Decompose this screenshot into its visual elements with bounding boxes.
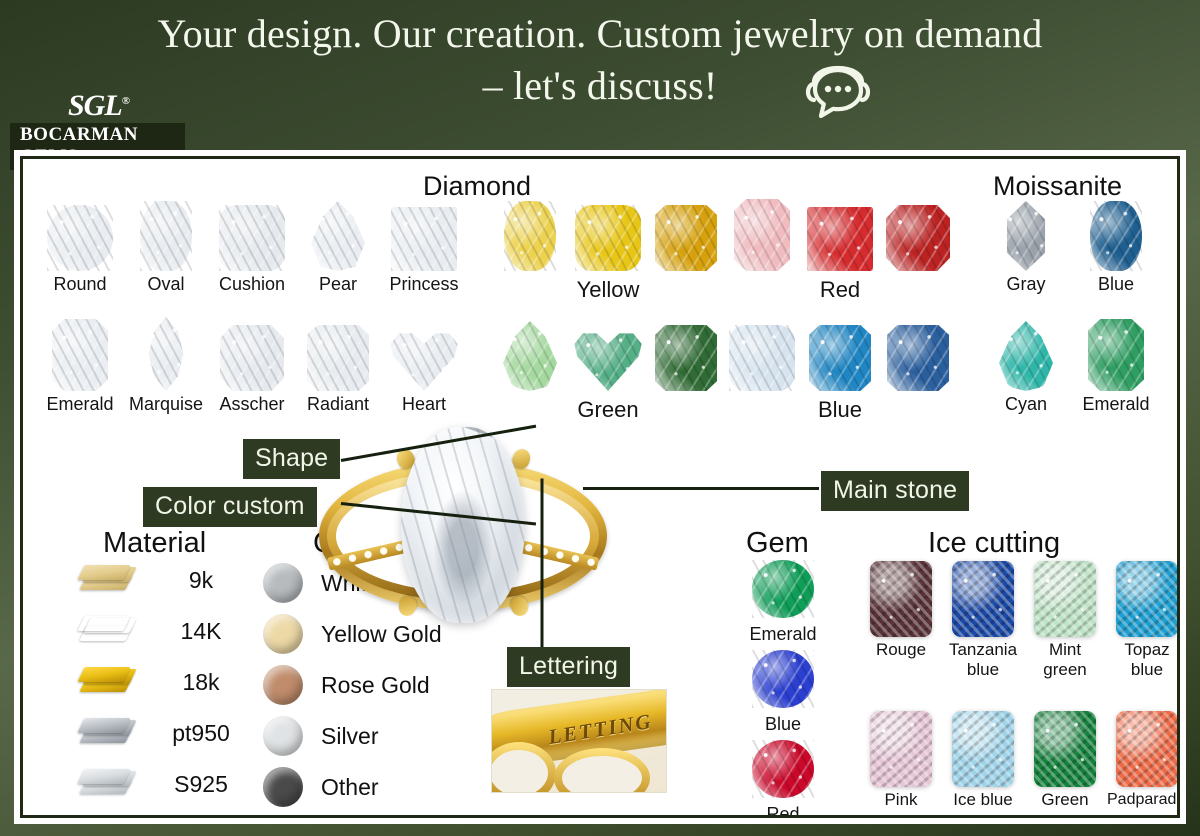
gem-facet-highlights: [655, 205, 717, 271]
gem-thumb: [738, 647, 828, 711]
diamond-color-blue-3[interactable]: [879, 315, 957, 391]
gem-facet-highlights: [734, 199, 790, 271]
gem-sparkle: [220, 325, 284, 391]
gem-sparkle: [734, 199, 790, 271]
diamond-shape-label-round: Round: [37, 274, 123, 294]
diamond-color-label-yellow: Yellow: [491, 277, 725, 303]
gem-thumb: [723, 315, 801, 391]
ice-label-topaz-blue: Topaz blue: [1107, 640, 1180, 680]
gem-thumb: [1025, 707, 1105, 787]
gem-sparkle: [655, 325, 717, 391]
gem-thumb: [37, 195, 123, 271]
leader-line-lettering: [541, 479, 544, 649]
registered-mark: ®: [122, 95, 129, 107]
gem-sparkle: [389, 329, 459, 391]
diamond-color-green-1[interactable]: [491, 315, 569, 391]
diamond-shape-pear[interactable]: Pear: [295, 195, 381, 294]
gold-bar-icon: [81, 665, 137, 699]
gem-label-blue: Blue: [738, 714, 828, 734]
diamond-shape-label-oval: Oval: [123, 274, 209, 294]
gem-thumb: [381, 315, 467, 391]
diamond-color-blue-1[interactable]: [723, 315, 801, 391]
gem-facet-highlights: [307, 325, 369, 391]
diamond-cushion-icon: [219, 205, 285, 271]
gem-sparkle: [752, 560, 814, 618]
callout-shape[interactable]: Shape: [243, 439, 340, 479]
ice-mint-green-icon: [1034, 561, 1096, 637]
gem-sparkle: [807, 207, 873, 271]
gem-facet-lines: [752, 740, 814, 798]
gem-blue-icon: [752, 650, 814, 708]
ice-cut-green[interactable]: Green: [1025, 707, 1105, 810]
gem-facet-lines: [886, 205, 950, 271]
diamond-color-blue-2[interactable]: [801, 315, 879, 391]
gem-thumb: [801, 315, 879, 391]
logo-monogram: SGL®: [10, 84, 185, 123]
diamond-red-asscher-icon: [886, 205, 950, 271]
ice-tanzania-blue-icon: [952, 561, 1014, 637]
gem-blue[interactable]: Blue: [738, 647, 828, 734]
gem-sparkle: [307, 325, 369, 391]
diamond-shape-heart[interactable]: Heart: [381, 315, 467, 414]
gem-sparkle: [952, 711, 1014, 787]
material-row-18k[interactable]: 18k: [81, 665, 247, 699]
ice-label-green: Green: [1025, 790, 1105, 810]
diamond-shape-emerald[interactable]: Emerald: [37, 315, 123, 414]
header-banner: Your design. Our creation. Custom jewelr…: [0, 0, 1200, 148]
gem-red[interactable]: Red: [738, 737, 828, 818]
diamond-shape-label-pear: Pear: [295, 274, 381, 294]
gem-facet-highlights: [143, 317, 189, 391]
material-label-s925: S925: [155, 771, 247, 798]
material-row-s925[interactable]: S925: [81, 767, 247, 801]
moissanite-blue-icon: [1090, 201, 1142, 271]
ice-label-padparadscha: Padparadscha: [1107, 790, 1180, 810]
ice-green-icon: [1034, 711, 1096, 787]
gem-facet-highlights: [389, 329, 459, 391]
moissanite-emerald-icon: [1088, 319, 1144, 391]
gem-sparkle: [391, 207, 457, 271]
gem-facet-highlights: [575, 205, 641, 271]
diamond-color-red-2[interactable]: [801, 195, 879, 271]
color-swatch-silver: [263, 716, 303, 756]
gem-facet-lines: [887, 325, 949, 391]
gem-sparkle: [752, 740, 814, 798]
content-panel: Diamond Moissanite Material Color Gem Ic…: [20, 156, 1180, 818]
gem-sparkle: [1034, 561, 1096, 637]
gem-facet-highlights: [752, 740, 814, 798]
diamond-red-emerald-icon: [734, 199, 790, 271]
gem-facet-highlights: [807, 207, 873, 271]
color-label-other: Other: [321, 774, 379, 801]
material-label-pt950: pt950: [155, 720, 247, 747]
color-label-silver: Silver: [321, 723, 379, 750]
diamond-shape-round[interactable]: Round: [37, 195, 123, 294]
gem-facet-lines: [47, 205, 113, 271]
diamond-yellow-oval-icon: [504, 201, 556, 271]
gem-facet-lines: [573, 329, 643, 391]
gem-facet-lines: [998, 201, 1054, 271]
diamond-blue-cushion-icon: [729, 325, 795, 391]
ice-padparadscha-icon: [1116, 711, 1178, 787]
infographic-root: Your design. Our creation. Custom jewelr…: [0, 0, 1200, 836]
section-title-ice: Ice cutting: [928, 527, 1060, 560]
gem-thumb: [491, 315, 569, 391]
gem-facet-highlights: [729, 325, 795, 391]
gem-sparkle: [887, 325, 949, 391]
callout-color-custom[interactable]: Color custom: [143, 487, 317, 527]
gem-sparkle: [311, 201, 365, 271]
color-row-silver[interactable]: Silver: [263, 716, 379, 756]
color-swatch-rose-gold: [263, 665, 303, 705]
gem-sparkle: [1088, 319, 1144, 391]
diamond-emerald-icon: [52, 319, 108, 391]
gem-sparkle: [655, 205, 717, 271]
gem-sparkle: [752, 650, 814, 708]
gem-label-emerald: Emerald: [738, 624, 828, 644]
ice-ice-blue-icon: [952, 711, 1014, 787]
gold-bar-piece: [77, 616, 130, 631]
diamond-shape-oval[interactable]: Oval: [123, 195, 209, 294]
color-row-rose-gold[interactable]: Rose Gold: [263, 665, 430, 705]
material-label-14k: 14K: [155, 618, 247, 645]
gem-facet-lines: [734, 199, 790, 271]
gem-sparkle: [1034, 711, 1096, 787]
diamond-princess-icon: [391, 207, 457, 271]
section-title-material: Material: [103, 527, 206, 560]
gold-bar-icon: [81, 767, 137, 801]
diamond-pear-icon: [311, 201, 365, 271]
material-label-18k: 18k: [155, 669, 247, 696]
gem-facet-highlights: [998, 201, 1054, 271]
gem-facet-lines: [807, 207, 873, 271]
gem-thumb: [879, 315, 957, 391]
gem-facet-highlights: [999, 321, 1053, 391]
diamond-shape-label-asscher: Asscher: [209, 394, 295, 414]
diamond-shape-label-cushion: Cushion: [209, 274, 295, 294]
gem-facet-lines: [752, 560, 814, 618]
diamond-yellow-radiant-icon: [655, 205, 717, 271]
gold-bar-icon: [81, 716, 137, 750]
gem-sparkle: [143, 317, 189, 391]
gem-sparkle: [870, 561, 932, 637]
gem-facet-lines: [220, 325, 284, 391]
diamond-shape-label-heart: Heart: [381, 394, 467, 414]
ice-pink-icon: [870, 711, 932, 787]
gem-facet-highlights: [809, 325, 871, 391]
gem-facet-highlights: [311, 201, 365, 271]
gem-sparkle: [504, 201, 556, 271]
gem-facet-highlights: [886, 205, 950, 271]
diamond-color-yellow-2[interactable]: [569, 195, 647, 271]
ice-cut-pink[interactable]: Pink: [861, 707, 941, 810]
ice-label-tanzania-blue: Tanzania blue: [943, 640, 1023, 680]
diamond-color-label-blue: Blue: [723, 397, 957, 423]
diamond-shape-cushion[interactable]: Cushion: [209, 195, 295, 294]
gem-thumb: [491, 195, 569, 271]
ice-cut-topaz-blue[interactable]: Topaz blue: [1107, 557, 1180, 680]
gem-thumb: [879, 195, 957, 271]
diamond-shape-label-marquise: Marquise: [123, 394, 209, 414]
gem-sparkle: [140, 201, 192, 271]
gold-bar-piece: [77, 769, 130, 784]
gem-thumb: [647, 315, 725, 391]
gem-facet-lines: [1088, 319, 1144, 391]
diamond-color-yellow-1[interactable]: [491, 195, 569, 271]
ice-cut-mint-green[interactable]: Mint green: [1025, 557, 1105, 680]
gem-emerald-icon: [752, 560, 814, 618]
gem-facet-lines: [52, 319, 108, 391]
headset-chat-bubble-icon[interactable]: [800, 62, 876, 122]
diamond-heart-icon: [389, 329, 459, 391]
gem-thumb: [943, 557, 1023, 637]
brand-logo[interactable]: SGL® BOCARMAN GEMS: [10, 84, 185, 142]
diamond-color-green-2[interactable]: [569, 315, 647, 391]
headline-line-1: Your design. Our creation. Custom jewelr…: [158, 11, 1043, 56]
gem-facet-lines: [999, 321, 1053, 391]
color-row-other[interactable]: Other: [263, 767, 379, 807]
diamond-red-princess-icon: [807, 207, 873, 271]
gem-sparkle: [998, 201, 1054, 271]
moissanite-cyan-icon: [999, 321, 1053, 391]
content-frame: Diamond Moissanite Material Color Gem Ic…: [14, 150, 1186, 824]
color-swatch-white-gold: [263, 563, 303, 603]
gem-facet-highlights: [391, 207, 457, 271]
gold-bar-icon: [81, 563, 137, 597]
diamond-round-icon: [47, 205, 113, 271]
gem-sparkle: [52, 319, 108, 391]
gem-facet-lines: [140, 201, 192, 271]
gem-sparkle: [729, 325, 795, 391]
gem-thumb: [738, 557, 828, 621]
gem-facet-lines: [655, 325, 717, 391]
gold-bar-piece: [77, 718, 130, 733]
moissanite-blue[interactable]: Blue: [1071, 195, 1161, 294]
color-swatch-other: [263, 767, 303, 807]
diamond-color-red-1[interactable]: [723, 195, 801, 271]
ice-rouge-icon: [870, 561, 932, 637]
ice-label-ice-blue: Ice blue: [943, 790, 1023, 810]
diamond-color-green-3[interactable]: [647, 315, 725, 391]
gem-facet-lines: [504, 201, 556, 271]
gem-thumb: [209, 195, 295, 271]
moissanite-gray[interactable]: Gray: [981, 195, 1071, 294]
gem-thumb: [381, 195, 467, 271]
gem-facet-highlights: [503, 321, 557, 391]
gem-facet-highlights: [219, 205, 285, 271]
gem-facet-highlights: [752, 650, 814, 708]
gem-label-red: Red: [738, 804, 828, 818]
gem-facet-highlights: [752, 560, 814, 618]
diamond-shape-asscher[interactable]: Asscher: [209, 315, 295, 414]
gem-sparkle: [219, 205, 285, 271]
moissanite-emerald[interactable]: Emerald: [1071, 315, 1161, 414]
moissanite-cyan[interactable]: Cyan: [981, 315, 1071, 414]
gem-sparkle: [573, 329, 643, 391]
ice-label-mint-green: Mint green: [1025, 640, 1105, 680]
diamond-color-label-red: Red: [723, 277, 957, 303]
color-label-rose-gold: Rose Gold: [321, 672, 430, 699]
gem-sparkle: [886, 205, 950, 271]
gem-facet-lines: [752, 650, 814, 708]
diamond-color-red-3[interactable]: [879, 195, 957, 271]
gem-facet-highlights: [47, 205, 113, 271]
diamond-green-heart-icon: [573, 329, 643, 391]
gem-thumb: [209, 315, 295, 391]
gem-sparkle: [870, 711, 932, 787]
diamond-color-label-green: Green: [491, 397, 725, 423]
ice-topaz-blue-icon: [1116, 561, 1178, 637]
gem-facet-lines: [311, 201, 365, 271]
diamond-shape-marquise[interactable]: Marquise: [123, 315, 209, 414]
gem-sparkle: [999, 321, 1053, 391]
gem-sparkle: [575, 205, 641, 271]
gem-sparkle: [1116, 711, 1178, 787]
gem-thumb: [1107, 557, 1180, 637]
ice-label-rouge: Rouge: [861, 640, 941, 660]
diamond-oval-icon: [140, 201, 192, 271]
gem-thumb: [861, 557, 941, 637]
gem-facet-highlights: [1090, 201, 1142, 271]
gem-thumb: [295, 195, 381, 271]
main-stone-oval-diamond: [401, 427, 525, 623]
headline-line-2: – let's discuss!: [483, 60, 718, 112]
callout-lettering[interactable]: Lettering: [507, 647, 630, 687]
gem-thumb: [981, 195, 1071, 271]
gem-facet-highlights: [573, 329, 643, 391]
gem-thumb: [37, 315, 123, 391]
ice-cut-ice-blue[interactable]: Ice blue: [943, 707, 1023, 810]
color-swatch-yellow-gold: [263, 614, 303, 654]
gem-thumb: [1071, 195, 1161, 271]
gem-thumb: [943, 707, 1023, 787]
gem-red-icon: [752, 740, 814, 798]
gem-thumb: [738, 737, 828, 801]
material-row-14k[interactable]: 14K: [81, 614, 247, 648]
gem-thumb: [1071, 315, 1161, 391]
diamond-asscher-icon: [220, 325, 284, 391]
diamond-marquise-icon: [143, 317, 189, 391]
diamond-shape-label-radiant: Radiant: [295, 394, 381, 414]
moissanite-gray-icon: [998, 201, 1054, 271]
gem-facet-lines: [655, 205, 717, 271]
gem-thumb: [1025, 557, 1105, 637]
moissanite-label-emerald: Emerald: [1071, 394, 1161, 414]
diamond-shape-label-princess: Princess: [381, 274, 467, 294]
gem-facet-lines: [729, 325, 795, 391]
material-row-pt950[interactable]: pt950: [81, 716, 247, 750]
lettering-sample-photo: LETTING: [491, 689, 667, 793]
diamond-shape-radiant[interactable]: Radiant: [295, 315, 381, 414]
gem-facet-highlights: [1088, 319, 1144, 391]
main-stone-facets: [401, 427, 525, 623]
gem-thumb: [723, 195, 801, 271]
diamond-green-radiant-icon: [655, 325, 717, 391]
gem-sparkle: [809, 325, 871, 391]
gem-thumb: [861, 707, 941, 787]
gem-sparkle: [503, 321, 557, 391]
leader-line-main-stone: [583, 487, 819, 490]
gold-bar-piece: [77, 667, 130, 682]
gold-bar-piece: [77, 565, 130, 580]
moissanite-label-blue: Blue: [1071, 274, 1161, 294]
diamond-green-pear-icon: [503, 321, 557, 391]
diamond-blue-radiant-icon: [887, 325, 949, 391]
gem-thumb: [569, 195, 647, 271]
diamond-shape-label-emerald: Emerald: [37, 394, 123, 414]
gem-sparkle: [952, 561, 1014, 637]
gem-facet-lines: [809, 325, 871, 391]
gem-thumb: [123, 315, 209, 391]
diamond-blue-radiant-icon: [809, 325, 871, 391]
gem-facet-highlights: [220, 325, 284, 391]
gem-sparkle: [1090, 201, 1142, 271]
diamond-radiant-icon: [307, 325, 369, 391]
ice-cut-tanzania-blue[interactable]: Tanzania blue: [943, 557, 1023, 680]
callout-main-stone[interactable]: Main stone: [821, 471, 969, 511]
gem-facet-highlights: [140, 201, 192, 271]
gem-facet-lines: [389, 329, 459, 391]
gem-sparkle: [47, 205, 113, 271]
gem-thumb: [647, 195, 725, 271]
gold-bar-icon: [81, 614, 137, 648]
gem-facet-lines: [391, 207, 457, 271]
gem-facet-lines: [503, 321, 557, 391]
gem-thumb: [569, 315, 647, 391]
gem-thumb: [1107, 707, 1180, 787]
material-label-9k: 9k: [155, 567, 247, 594]
gem-facet-highlights: [504, 201, 556, 271]
gem-emerald[interactable]: Emerald: [738, 557, 828, 644]
diamond-color-yellow-3[interactable]: [647, 195, 725, 271]
gem-facet-highlights: [52, 319, 108, 391]
gem-facet-highlights: [655, 325, 717, 391]
gem-facet-highlights: [887, 325, 949, 391]
gem-thumb: [801, 195, 879, 271]
gem-sparkle: [1116, 561, 1178, 637]
diamond-shape-princess[interactable]: Princess: [381, 195, 467, 294]
gem-facet-lines: [219, 205, 285, 271]
ice-cut-padparadscha[interactable]: Padparadscha: [1107, 707, 1180, 810]
gem-thumb: [295, 315, 381, 391]
diamond-yellow-cushion-icon: [575, 205, 641, 271]
gem-thumb: [981, 315, 1071, 391]
moissanite-label-gray: Gray: [981, 274, 1071, 294]
gem-facet-lines: [143, 317, 189, 391]
gem-facet-lines: [307, 325, 369, 391]
ice-cut-rouge[interactable]: Rouge: [861, 557, 941, 660]
material-row-9k[interactable]: 9k: [81, 563, 247, 597]
gem-facet-lines: [575, 205, 641, 271]
gem-facet-lines: [1090, 201, 1142, 271]
gem-thumb: [123, 195, 209, 271]
section-title-gem: Gem: [746, 527, 809, 560]
moissanite-label-cyan: Cyan: [981, 394, 1071, 414]
ice-label-pink: Pink: [861, 790, 941, 810]
